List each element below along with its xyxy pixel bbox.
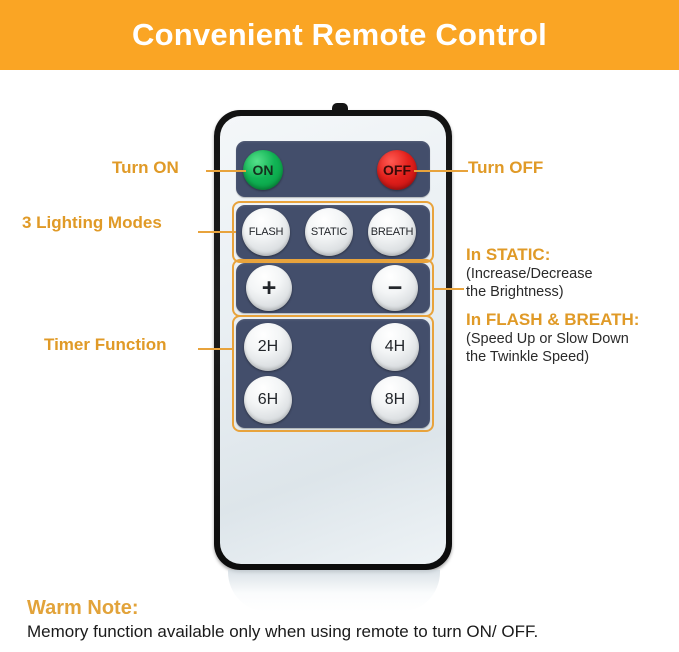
leader-line-turn-on (206, 170, 246, 172)
callout-timer-function: Timer Function (44, 335, 166, 355)
brightness-increase-button[interactable]: + (246, 265, 292, 311)
callout-turn-on-title: Turn ON (112, 158, 179, 178)
mode-flash-button[interactable]: FLASH (242, 208, 290, 256)
warm-note-body: Memory function available only when usin… (27, 622, 538, 642)
mode-static-button[interactable]: STATIC (305, 208, 353, 256)
mode-breath-button[interactable]: BREATH (368, 208, 416, 256)
page-title: Convenient Remote Control (132, 17, 547, 53)
callout-in-flash-breath: In FLASH & BREATH: (Speed Up or Slow Dow… (466, 310, 639, 366)
brightness-decrease-button[interactable]: − (372, 265, 418, 311)
callout-timer-function-title: Timer Function (44, 335, 166, 355)
timer-2h-button[interactable]: 2H (244, 323, 292, 371)
callout-lighting-modes-title: 3 Lighting Modes (22, 213, 162, 233)
callout-in-flash-breath-line1: (Speed Up or Slow Down (466, 330, 639, 348)
callout-in-flash-breath-title: In FLASH & BREATH: (466, 310, 639, 330)
callout-in-static-line2: the Brightness) (466, 283, 593, 301)
callout-turn-off-title: Turn OFF (468, 158, 543, 178)
header-banner: Convenient Remote Control (0, 0, 679, 70)
timer-8h-button[interactable]: 8H (371, 376, 419, 424)
callout-turn-off: Turn OFF (468, 158, 543, 178)
power-on-button[interactable]: ON (243, 150, 283, 190)
callout-in-static-line1: (Increase/Decrease (466, 265, 593, 283)
callout-in-static: In STATIC: (Increase/Decrease the Bright… (466, 245, 593, 301)
timer-6h-button[interactable]: 6H (244, 376, 292, 424)
power-off-button[interactable]: OFF (377, 150, 417, 190)
leader-line-lighting-modes (198, 231, 236, 233)
leader-line-turn-off (414, 170, 468, 172)
leader-line-in-static (434, 288, 464, 290)
remote-reflection (228, 570, 440, 612)
timer-4h-button[interactable]: 4H (371, 323, 419, 371)
warm-note-title: Warm Note: (27, 597, 138, 620)
callout-lighting-modes: 3 Lighting Modes (22, 213, 162, 233)
callout-in-flash-breath-line2: the Twinkle Speed) (466, 348, 639, 366)
callout-turn-on: Turn ON (112, 158, 179, 178)
leader-line-timer-function (198, 348, 234, 350)
callout-in-static-title: In STATIC: (466, 245, 593, 265)
